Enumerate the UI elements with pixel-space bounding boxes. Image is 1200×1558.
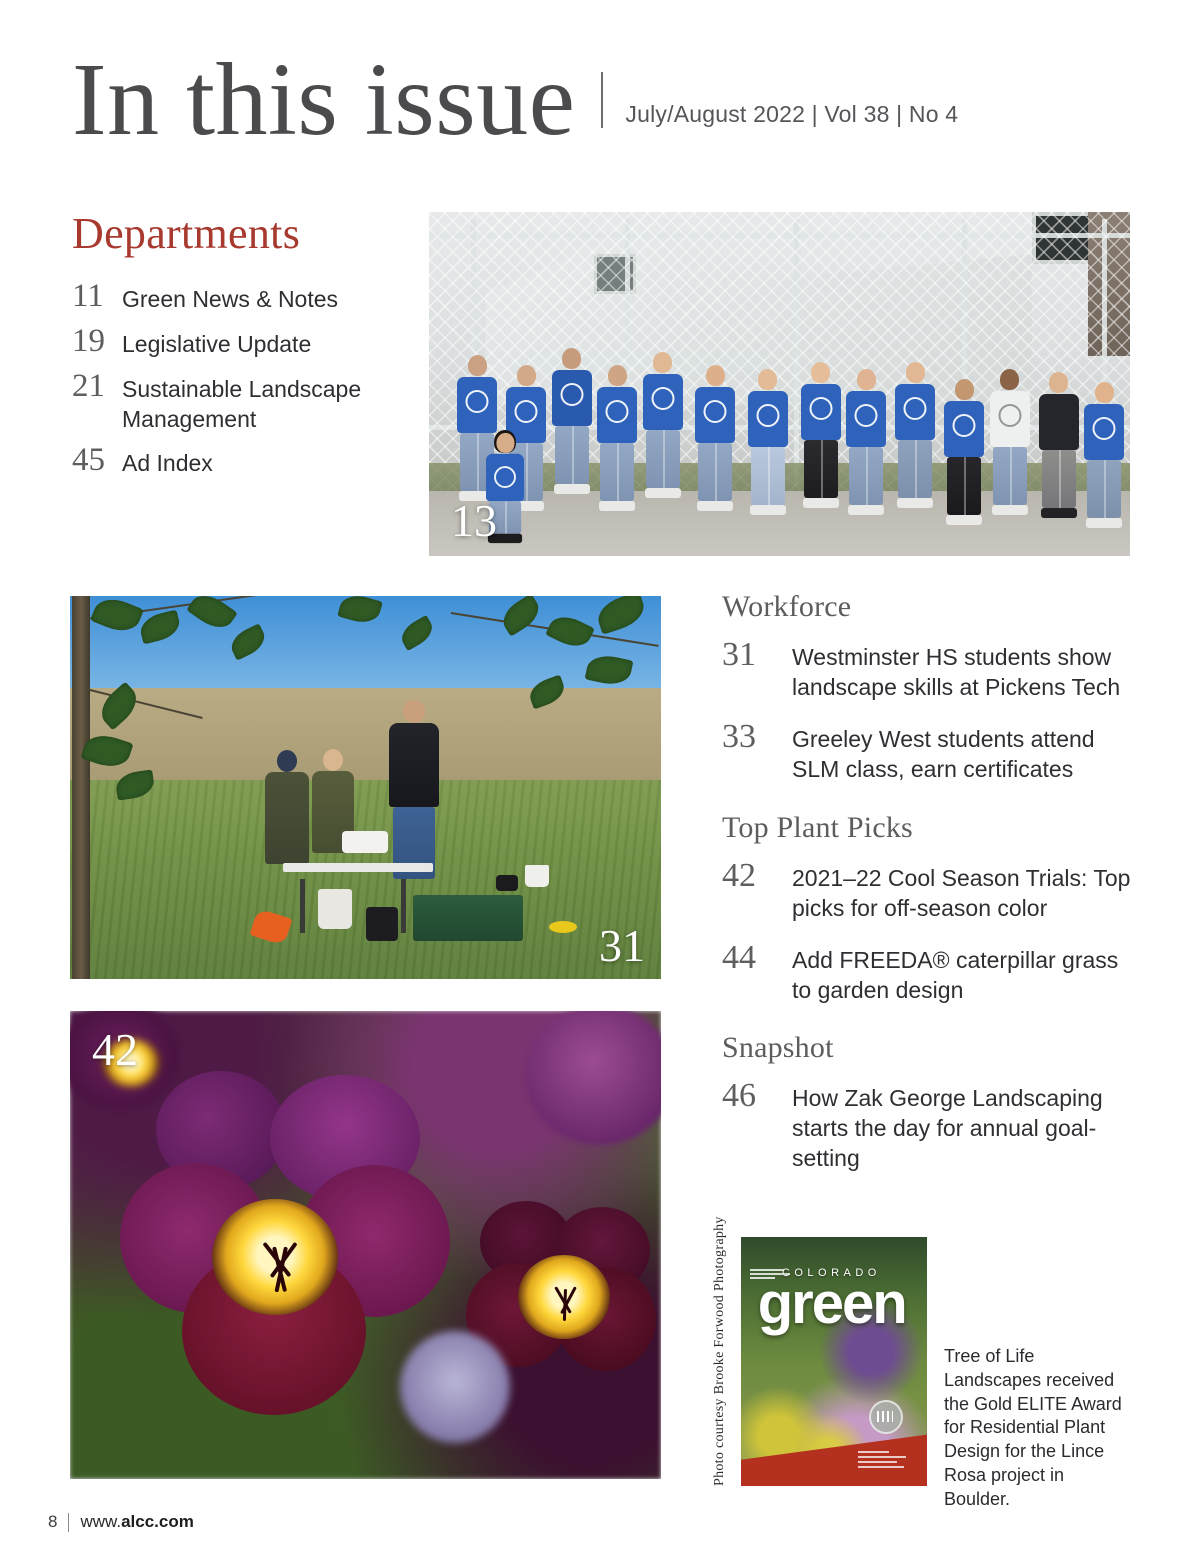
student-figure	[597, 365, 637, 511]
toc-entry-title: How Zak George Landscaping starts the da…	[792, 1077, 1142, 1173]
toc-entry[interactable]: 21 Sustainable Landscape Management	[72, 368, 422, 434]
page-footer: 8 www.alcc.com	[48, 1512, 194, 1532]
tree-trunk	[72, 596, 90, 979]
black-tray	[496, 875, 518, 891]
photo-credit-vertical: Photo courtesy Brooke Forwood Photograph…	[712, 1236, 728, 1486]
toc-entry-title: Westminster HS students show landscape s…	[792, 636, 1142, 702]
table-leg	[300, 879, 305, 933]
page-title: In this issue	[72, 48, 575, 152]
student-figure	[1039, 372, 1079, 518]
black-case	[366, 907, 398, 941]
masthead: In this issue July/August 2022 | Vol 38 …	[72, 48, 958, 152]
toc-entry[interactable]: 31 Westminster HS students show landscap…	[722, 636, 1142, 702]
toc-page-number: 42	[722, 857, 792, 895]
toc-entry-title: Sustainable Landscape Management	[122, 368, 422, 434]
photo-page-number: 31	[599, 923, 645, 969]
pansy-bud-background	[400, 1331, 520, 1451]
section-heading: Workforce	[722, 590, 1142, 624]
toc-page-number: 33	[722, 718, 792, 756]
cover-footer-lines	[858, 1451, 910, 1471]
student-figure	[895, 362, 935, 508]
cover-brand-main: green	[758, 1277, 906, 1330]
yellow-hose	[549, 921, 577, 933]
toc-entry-title: Greeley West students attend SLM class, …	[792, 718, 1142, 784]
footer-url-prefix: www.	[80, 1512, 121, 1532]
toc-entry[interactable]: 19 Legislative Update	[72, 323, 422, 360]
award-seal-icon	[869, 1400, 903, 1434]
toc-entry[interactable]: 46 How Zak George Landscaping starts the…	[722, 1077, 1142, 1173]
student-figure	[1084, 382, 1124, 528]
toc-entry-title: Ad Index	[122, 442, 213, 478]
magazine-cover-thumbnail[interactable]: COLORADO green	[741, 1237, 927, 1486]
folding-table	[283, 863, 433, 872]
toc-page-number: 46	[722, 1077, 792, 1115]
section-top-plant-picks: Top Plant Picks 42 2021–22 Cool Season T…	[722, 811, 1142, 1006]
section-heading: Top Plant Picks	[722, 811, 1142, 845]
toc-page-number: 45	[72, 442, 122, 479]
magazine-toc-page: In this issue July/August 2022 | Vol 38 …	[0, 0, 1200, 1558]
student-figure	[990, 369, 1030, 515]
footer-divider	[68, 1513, 69, 1532]
footer-page-number: 8	[48, 1512, 57, 1532]
section-snapshot: Snapshot 46 How Zak George Landscaping s…	[722, 1031, 1142, 1173]
toc-list-top-plant-picks: 42 2021–22 Cool Season Trials: Top picks…	[722, 857, 1142, 1006]
student-figure	[552, 348, 592, 494]
person-figure	[265, 750, 309, 864]
green-tote-bin	[413, 895, 523, 941]
pansy-flower-background	[525, 1011, 661, 1145]
student-figure	[846, 369, 886, 515]
grass-field	[70, 780, 661, 979]
toc-page-number: 11	[72, 278, 122, 315]
petal	[525, 1011, 661, 1145]
toc-entry[interactable]: 45 Ad Index	[72, 442, 422, 479]
toc-page-number: 44	[722, 939, 792, 977]
person-figure	[389, 700, 439, 879]
toc-page-number: 31	[722, 636, 792, 674]
student-figure	[643, 352, 683, 498]
toc-entry[interactable]: 42 2021–22 Cool Season Trials: Top picks…	[722, 857, 1142, 923]
student-figure	[695, 365, 735, 511]
departments-heading: Departments	[72, 208, 300, 259]
section-workforce: Workforce 31 Westminster HS students sho…	[722, 590, 1142, 785]
student-figure	[801, 362, 841, 508]
toc-list-snapshot: 46 How Zak George Landscaping starts the…	[722, 1077, 1142, 1173]
toc-entry-title: 2021–22 Cool Season Trials: Top picks fo…	[792, 857, 1142, 923]
toc-entry[interactable]: 44 Add FREEDA® caterpillar grass to gard…	[722, 939, 1142, 1005]
feature-sections: Workforce 31 Westminster HS students sho…	[722, 590, 1142, 1199]
photo-pansy-flowers: 42	[70, 1011, 661, 1479]
photo-page-number: 42	[92, 1027, 138, 1073]
white-bucket	[525, 865, 549, 887]
photo-students-greenhouse: 13	[429, 212, 1130, 556]
white-bucket	[318, 889, 352, 929]
toc-list-departments: 11 Green News & Notes 19 Legislative Upd…	[72, 278, 422, 479]
paper-stack	[342, 831, 388, 853]
toc-entry-title: Green News & Notes	[122, 278, 338, 314]
student-figure	[748, 369, 788, 515]
toc-entry[interactable]: 33 Greeley West students attend SLM clas…	[722, 718, 1142, 784]
student-figure	[944, 379, 984, 525]
masthead-divider	[601, 72, 603, 128]
dry-hillside	[70, 688, 661, 788]
petal	[400, 1331, 510, 1443]
toc-page-number: 21	[72, 368, 122, 405]
photo-page-number: 13	[451, 498, 497, 544]
toc-entry-title: Add FREEDA® caterpillar grass to garden …	[792, 939, 1142, 1005]
toc-page-number: 19	[72, 323, 122, 360]
issue-meta: July/August 2022 | Vol 38 | No 4	[625, 101, 958, 128]
photo-field-work: 31	[70, 596, 661, 979]
section-heading: Snapshot	[722, 1031, 1142, 1065]
departments-list: 11 Green News & Notes 19 Legislative Upd…	[72, 278, 422, 487]
table-leg	[401, 879, 406, 933]
footer-url-domain[interactable]: alcc.com	[121, 1512, 194, 1532]
toc-list-workforce: 31 Westminster HS students show landscap…	[722, 636, 1142, 785]
toc-entry[interactable]: 11 Green News & Notes	[72, 278, 422, 315]
toc-entry-title: Legislative Update	[122, 323, 311, 359]
cover-caption: Tree of Life Landscapes received the Gol…	[944, 1345, 1134, 1511]
